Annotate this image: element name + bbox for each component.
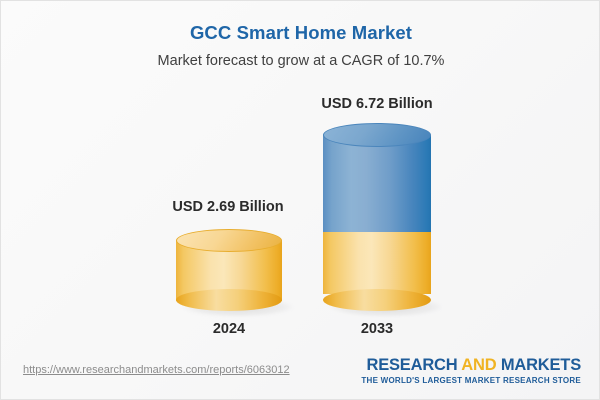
footer: https://www.researchandmarkets.com/repor… [1, 349, 600, 399]
logo-research-text: RESEARCH [366, 356, 457, 374]
value-label-2033: USD 6.72 Billion [277, 96, 477, 112]
bar-top-cap-2024 [176, 229, 282, 252]
plot-area: USD 2.69 Billion 2024 USD 6.72 Billion 2… [1, 1, 600, 349]
report-url-link[interactable]: https://www.researchandmarkets.com/repor… [23, 364, 290, 376]
logo-tagline: THE WORLD'S LARGEST MARKET RESEARCH STOR… [361, 376, 581, 385]
bar-segment-2033-growth [323, 135, 431, 232]
bar-top-cap-2033 [323, 123, 431, 147]
logo-and-text: AND [461, 356, 496, 374]
logo-wordmark: RESEARCH AND MARKETS [361, 356, 581, 375]
category-label-2033: 2033 [277, 321, 477, 337]
bar-bottom-cap-2024 [176, 289, 282, 311]
bar-2033[interactable] [323, 123, 431, 311]
brand-logo[interactable]: RESEARCH AND MARKETS THE WORLD'S LARGEST… [361, 356, 581, 385]
bar-segment-2033-base [323, 232, 431, 294]
bar-bottom-cap-2033 [323, 289, 431, 311]
chart-card: GCC Smart Home Market Market forecast to… [0, 0, 600, 400]
value-label-2024: USD 2.69 Billion [128, 199, 328, 215]
bar-2024[interactable] [176, 229, 282, 311]
logo-markets-text: MARKETS [501, 356, 581, 374]
